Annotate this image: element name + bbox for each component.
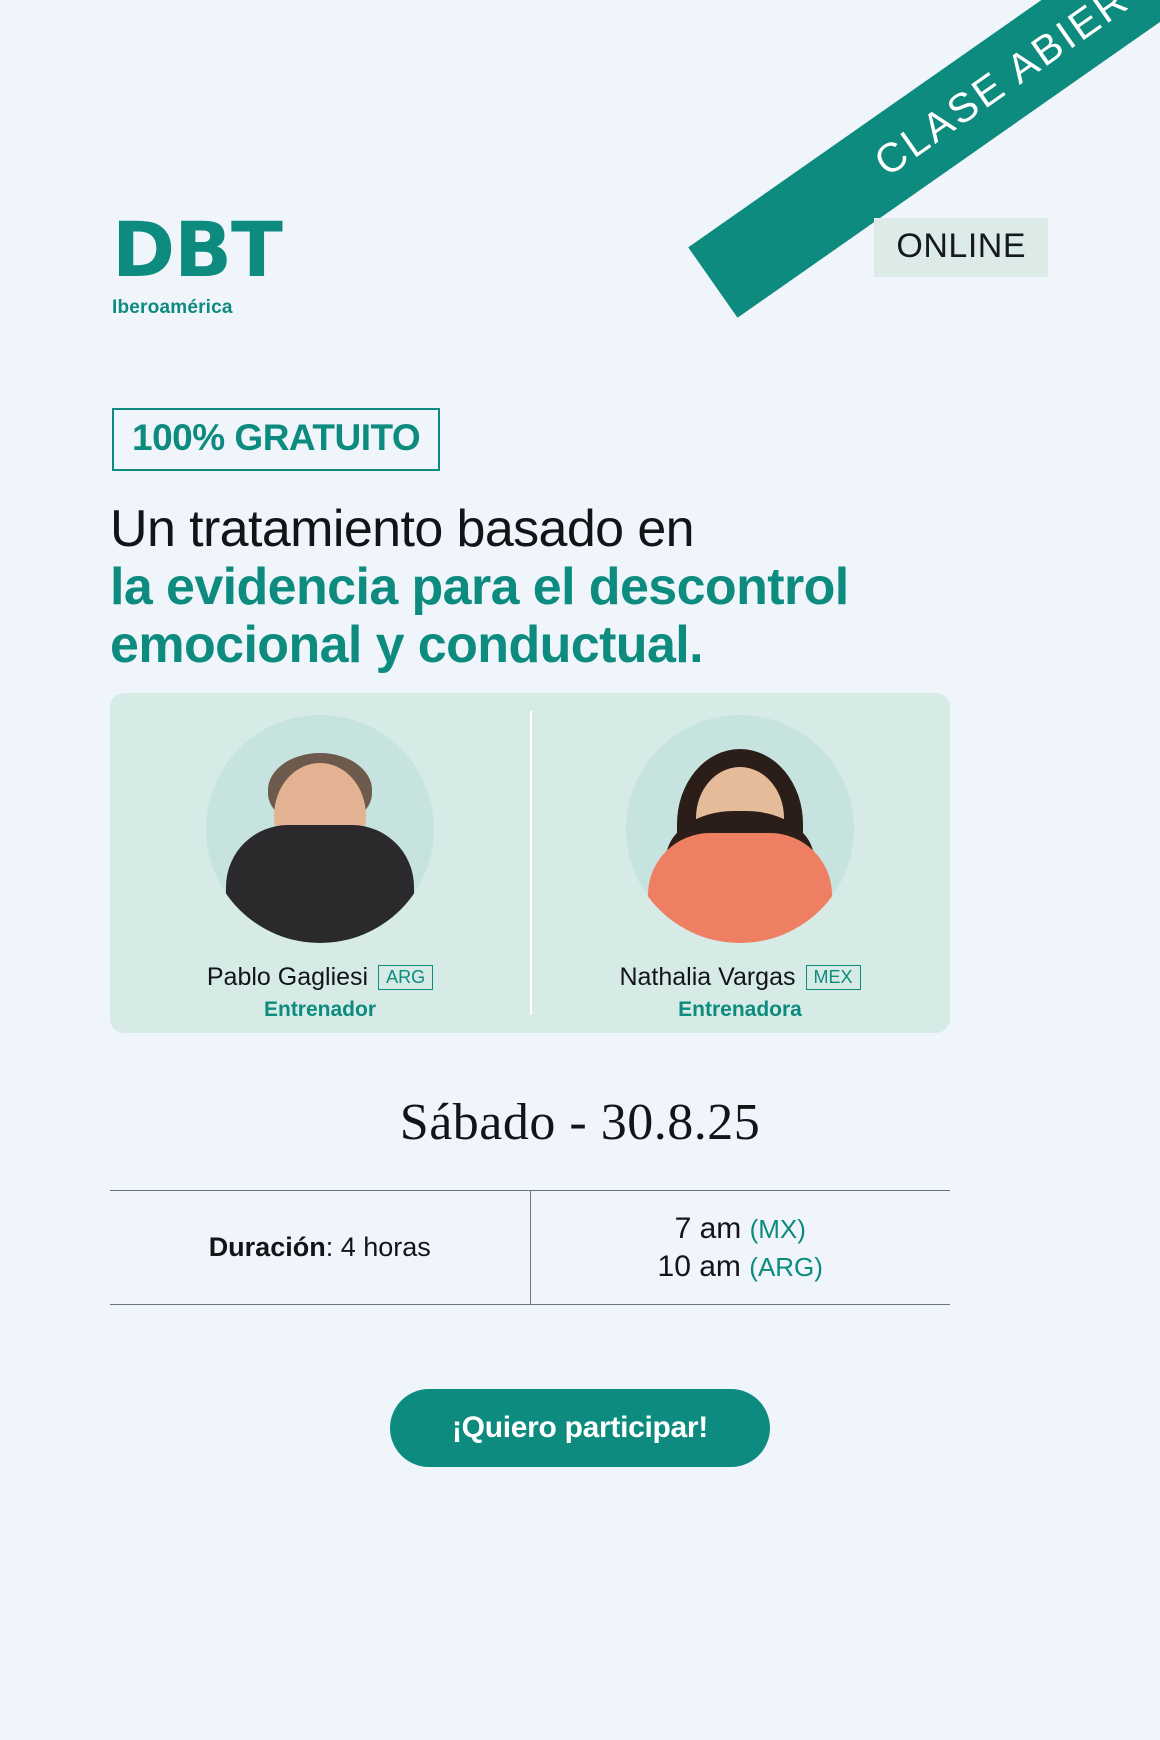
speaker-name: Pablo Gagliesi [207,963,368,992]
duration-separator: : [326,1232,341,1262]
duration-label: Duración [209,1232,326,1262]
speakers-panel: Pablo Gagliesi ARG Entrenador Nathalia V… [110,693,950,1033]
logo-subtitle: Iberoamérica [112,297,233,319]
speaker-role: Entrenador [264,998,376,1022]
time-zone: (ARG) [749,1252,823,1282]
portrait-body-icon [648,833,832,943]
event-date: Sábado - 30.8.25 [0,1093,1160,1152]
online-badge: ONLINE [874,218,1048,277]
speaker-name-row: Nathalia Vargas MEX [619,963,860,992]
ribbon-label: CLASE ABIERTA [767,0,1160,254]
speaker-name: Nathalia Vargas [619,963,795,992]
time-value: 7 am [675,1212,742,1245]
headline-line-3: emocional y conductual. [110,616,1010,674]
headline-line-2: la evidencia para el descontrol [110,558,1010,616]
avatar [626,715,854,943]
time-row-mx: 7 am (MX) [658,1210,823,1248]
poster-header: DBT Iberoamérica ONLINE [112,218,1048,319]
poster: CLASE ABIERTA DBT Iberoamérica ONLINE 10… [0,0,1160,1740]
speaker-name-row: Pablo Gagliesi ARG [207,963,433,992]
duration-text: Duración: 4 horas [209,1232,431,1263]
brand-logo: DBT Iberoamérica [112,218,282,319]
time-zone: (MX) [750,1214,806,1244]
speaker-country-badge: MEX [806,965,861,990]
portrait-body-icon [226,825,414,943]
free-badge-label: 100% GRATUITO [132,417,420,458]
event-info-row: Duración: 4 horas 7 am (MX) 10 am (ARG) [110,1190,950,1305]
duration-value: 4 horas [341,1232,431,1262]
speaker-role: Entrenadora [678,998,802,1022]
times-list: 7 am (MX) 10 am (ARG) [658,1210,823,1285]
times-cell: 7 am (MX) 10 am (ARG) [531,1191,951,1304]
logo-wordmark: DBT [112,218,282,283]
free-badge: 100% GRATUITO [112,408,440,471]
speaker-country-badge: ARG [378,965,433,990]
avatar [206,715,434,943]
duration-cell: Duración: 4 horas [110,1191,531,1304]
time-row-arg: 10 am (ARG) [658,1248,823,1286]
headline-line-1: Un tratamiento basado en [110,500,1010,558]
speaker-card-pablo-gagliesi: Pablo Gagliesi ARG Entrenador [110,693,530,1033]
register-button[interactable]: ¡Quiero participar! [390,1389,770,1467]
page-title: Un tratamiento basado en la evidencia pa… [110,500,1010,675]
time-value: 10 am [658,1250,741,1283]
speaker-card-nathalia-vargas: Nathalia Vargas MEX Entrenadora [530,693,950,1033]
